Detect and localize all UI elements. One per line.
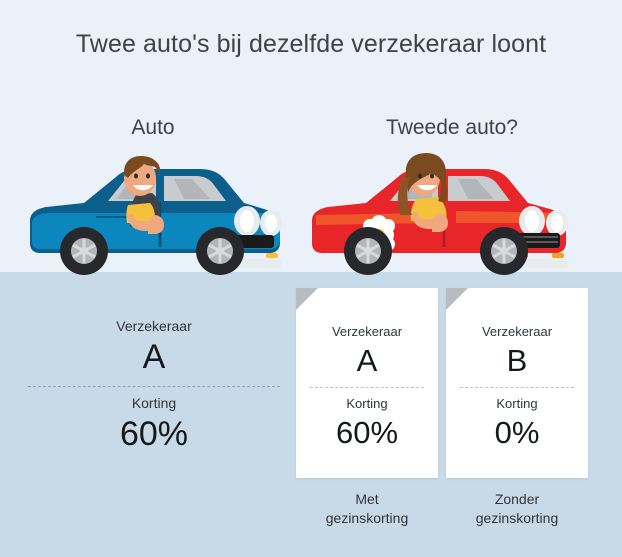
caption-b-line2: gezinskorting — [446, 509, 588, 528]
first-car-divider — [28, 386, 280, 387]
folded-corner-icon — [446, 288, 468, 310]
column-heading-second-car: Tweede auto? — [312, 116, 592, 140]
card-b-discount-label: Korting — [446, 394, 588, 414]
first-car-info-column: Verzekeraar A Korting 60% — [18, 316, 290, 455]
card-b-divider — [460, 387, 574, 388]
scenario-card-without-family-discount: Verzekeraar B Korting 0% — [446, 288, 588, 478]
card-b-insurer-value: B — [446, 342, 588, 380]
caption-a-line1: Met — [296, 490, 438, 509]
blue-car-with-male-driver-icon — [24, 143, 286, 279]
card-b-insurer-label: Verzekeraar — [446, 322, 588, 342]
scenario-card-with-family-discount: Verzekeraar A Korting 60% — [296, 288, 438, 478]
first-car-discount-label: Korting — [18, 393, 290, 413]
caption-b-line1: Zonder — [446, 490, 588, 509]
card-a-insurer-label: Verzekeraar — [296, 322, 438, 342]
red-car-with-female-driver-icon — [306, 143, 574, 283]
card-b-discount-value: 0% — [446, 414, 588, 452]
caption-with-family-discount: Met gezinskorting — [296, 490, 438, 528]
infographic-canvas: Twee auto's bij dezelfde verzekeraar loo… — [0, 0, 622, 557]
caption-a-line2: gezinskorting — [296, 509, 438, 528]
first-car-insurer-label: Verzekeraar — [18, 316, 290, 336]
page-title: Twee auto's bij dezelfde verzekeraar loo… — [0, 30, 622, 59]
column-heading-first-car: Auto — [28, 116, 278, 140]
first-car-discount-value: 60% — [18, 413, 290, 455]
card-a-discount-label: Korting — [296, 394, 438, 414]
card-a-divider — [310, 387, 424, 388]
caption-without-family-discount: Zonder gezinskorting — [446, 490, 588, 528]
folded-corner-icon — [296, 288, 318, 310]
card-a-discount-value: 60% — [296, 414, 438, 452]
card-a-insurer-value: A — [296, 342, 438, 380]
first-car-insurer-value: A — [18, 336, 290, 378]
